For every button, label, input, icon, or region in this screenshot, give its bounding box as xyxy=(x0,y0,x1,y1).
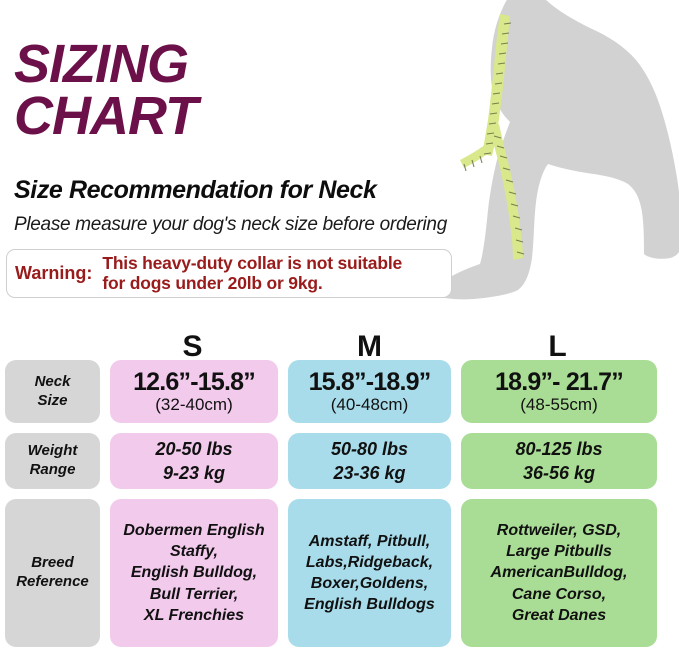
sizing-table: S M L Neck Size 12.6”-15.8” (32-40cm) 15… xyxy=(0,330,679,657)
weight-kg-large: 36-56 kg xyxy=(515,461,602,485)
warning-box: Warning: This heavy-duty collar is not s… xyxy=(6,249,452,298)
size-header-s: S xyxy=(105,330,280,364)
warning-line-2: for dogs under 20lb or 9kg. xyxy=(102,274,402,294)
weight-kg-medium: 23-36 kg xyxy=(331,461,408,485)
row-label-neck-size: Neck Size xyxy=(5,360,100,423)
weight-label-line-1: Weight xyxy=(28,442,78,461)
size-header-m: M xyxy=(287,330,452,364)
cell-breed-medium: Amstaff, Pitbull,Labs,Ridgeback,Boxer,Go… xyxy=(288,499,451,647)
weight-lbs-large: 80-125 lbs xyxy=(515,437,602,461)
neck-cm-large: (48-55cm) xyxy=(520,396,597,414)
cell-neck-size-medium: 15.8”-18.9” (40-48cm) xyxy=(288,360,451,423)
neck-inches-large: 18.9”- 21.7” xyxy=(495,369,623,395)
sizing-chart-page: SIZING CHART Size Recommendation for Nec… xyxy=(0,0,679,672)
breed-list-large: Rottweiler, GSD,Large PitbullsAmericanBu… xyxy=(486,520,633,626)
warning-label: Warning: xyxy=(15,263,102,284)
neck-label-line-1: Neck xyxy=(35,373,71,392)
measuring-tape xyxy=(460,14,524,260)
bulldog-silhouette xyxy=(436,0,679,299)
page-title: SIZING CHART xyxy=(14,38,434,143)
neck-cm-medium: (40-48cm) xyxy=(331,396,408,414)
neck-inches-small: 12.6”-15.8” xyxy=(133,369,255,395)
row-label-breed-reference: Breed Reference xyxy=(5,499,100,647)
title-line-1: SIZING xyxy=(14,38,434,90)
breed-label-line-2: Reference xyxy=(16,573,89,592)
warning-line-1: This heavy-duty collar is not suitable xyxy=(102,254,402,274)
breed-list-medium: Amstaff, Pitbull,Labs,Ridgeback,Boxer,Go… xyxy=(299,531,440,615)
table-row-neck-size: Neck Size 12.6”-15.8” (32-40cm) 15.8”-18… xyxy=(0,360,679,423)
weight-lbs-medium: 50-80 lbs xyxy=(331,437,408,461)
cell-weight-medium: 50-80 lbs 23-36 kg xyxy=(288,433,451,489)
cell-weight-large: 80-125 lbs 36-56 kg xyxy=(461,433,657,489)
warning-message: This heavy-duty collar is not suitable f… xyxy=(102,254,402,293)
title-line-2: CHART xyxy=(14,90,434,142)
breed-label-line-1: Breed xyxy=(16,554,89,573)
cell-breed-large: Rottweiler, GSD,Large PitbullsAmericanBu… xyxy=(461,499,657,647)
neck-cm-small: (32-40cm) xyxy=(155,396,232,414)
size-header-l: L xyxy=(455,330,660,364)
size-header-row: S M L xyxy=(0,330,679,360)
row-label-weight-range: Weight Range xyxy=(5,433,100,489)
neck-label-line-2: Size xyxy=(35,392,71,411)
breed-list-small: Dobermen EnglishStaffy,English Bulldog,B… xyxy=(118,520,269,626)
cell-neck-size-small: 12.6”-15.8” (32-40cm) xyxy=(110,360,278,423)
cell-neck-size-large: 18.9”- 21.7” (48-55cm) xyxy=(461,360,657,423)
weight-lbs-small: 20-50 lbs xyxy=(155,437,232,461)
cell-breed-small: Dobermen EnglishStaffy,English Bulldog,B… xyxy=(110,499,278,647)
page-subtitle: Size Recommendation for Neck xyxy=(14,176,377,205)
table-row-breed-reference: Breed Reference Dobermen EnglishStaffy,E… xyxy=(0,499,679,647)
cell-weight-small: 20-50 lbs 9-23 kg xyxy=(110,433,278,489)
weight-kg-small: 9-23 kg xyxy=(155,461,232,485)
weight-label-line-2: Range xyxy=(28,461,78,480)
neck-inches-medium: 15.8”-18.9” xyxy=(309,369,431,395)
measure-instruction: Please measure your dog's neck size befo… xyxy=(14,214,447,236)
table-row-weight-range: Weight Range 20-50 lbs 9-23 kg 50-80 lbs… xyxy=(0,433,679,489)
